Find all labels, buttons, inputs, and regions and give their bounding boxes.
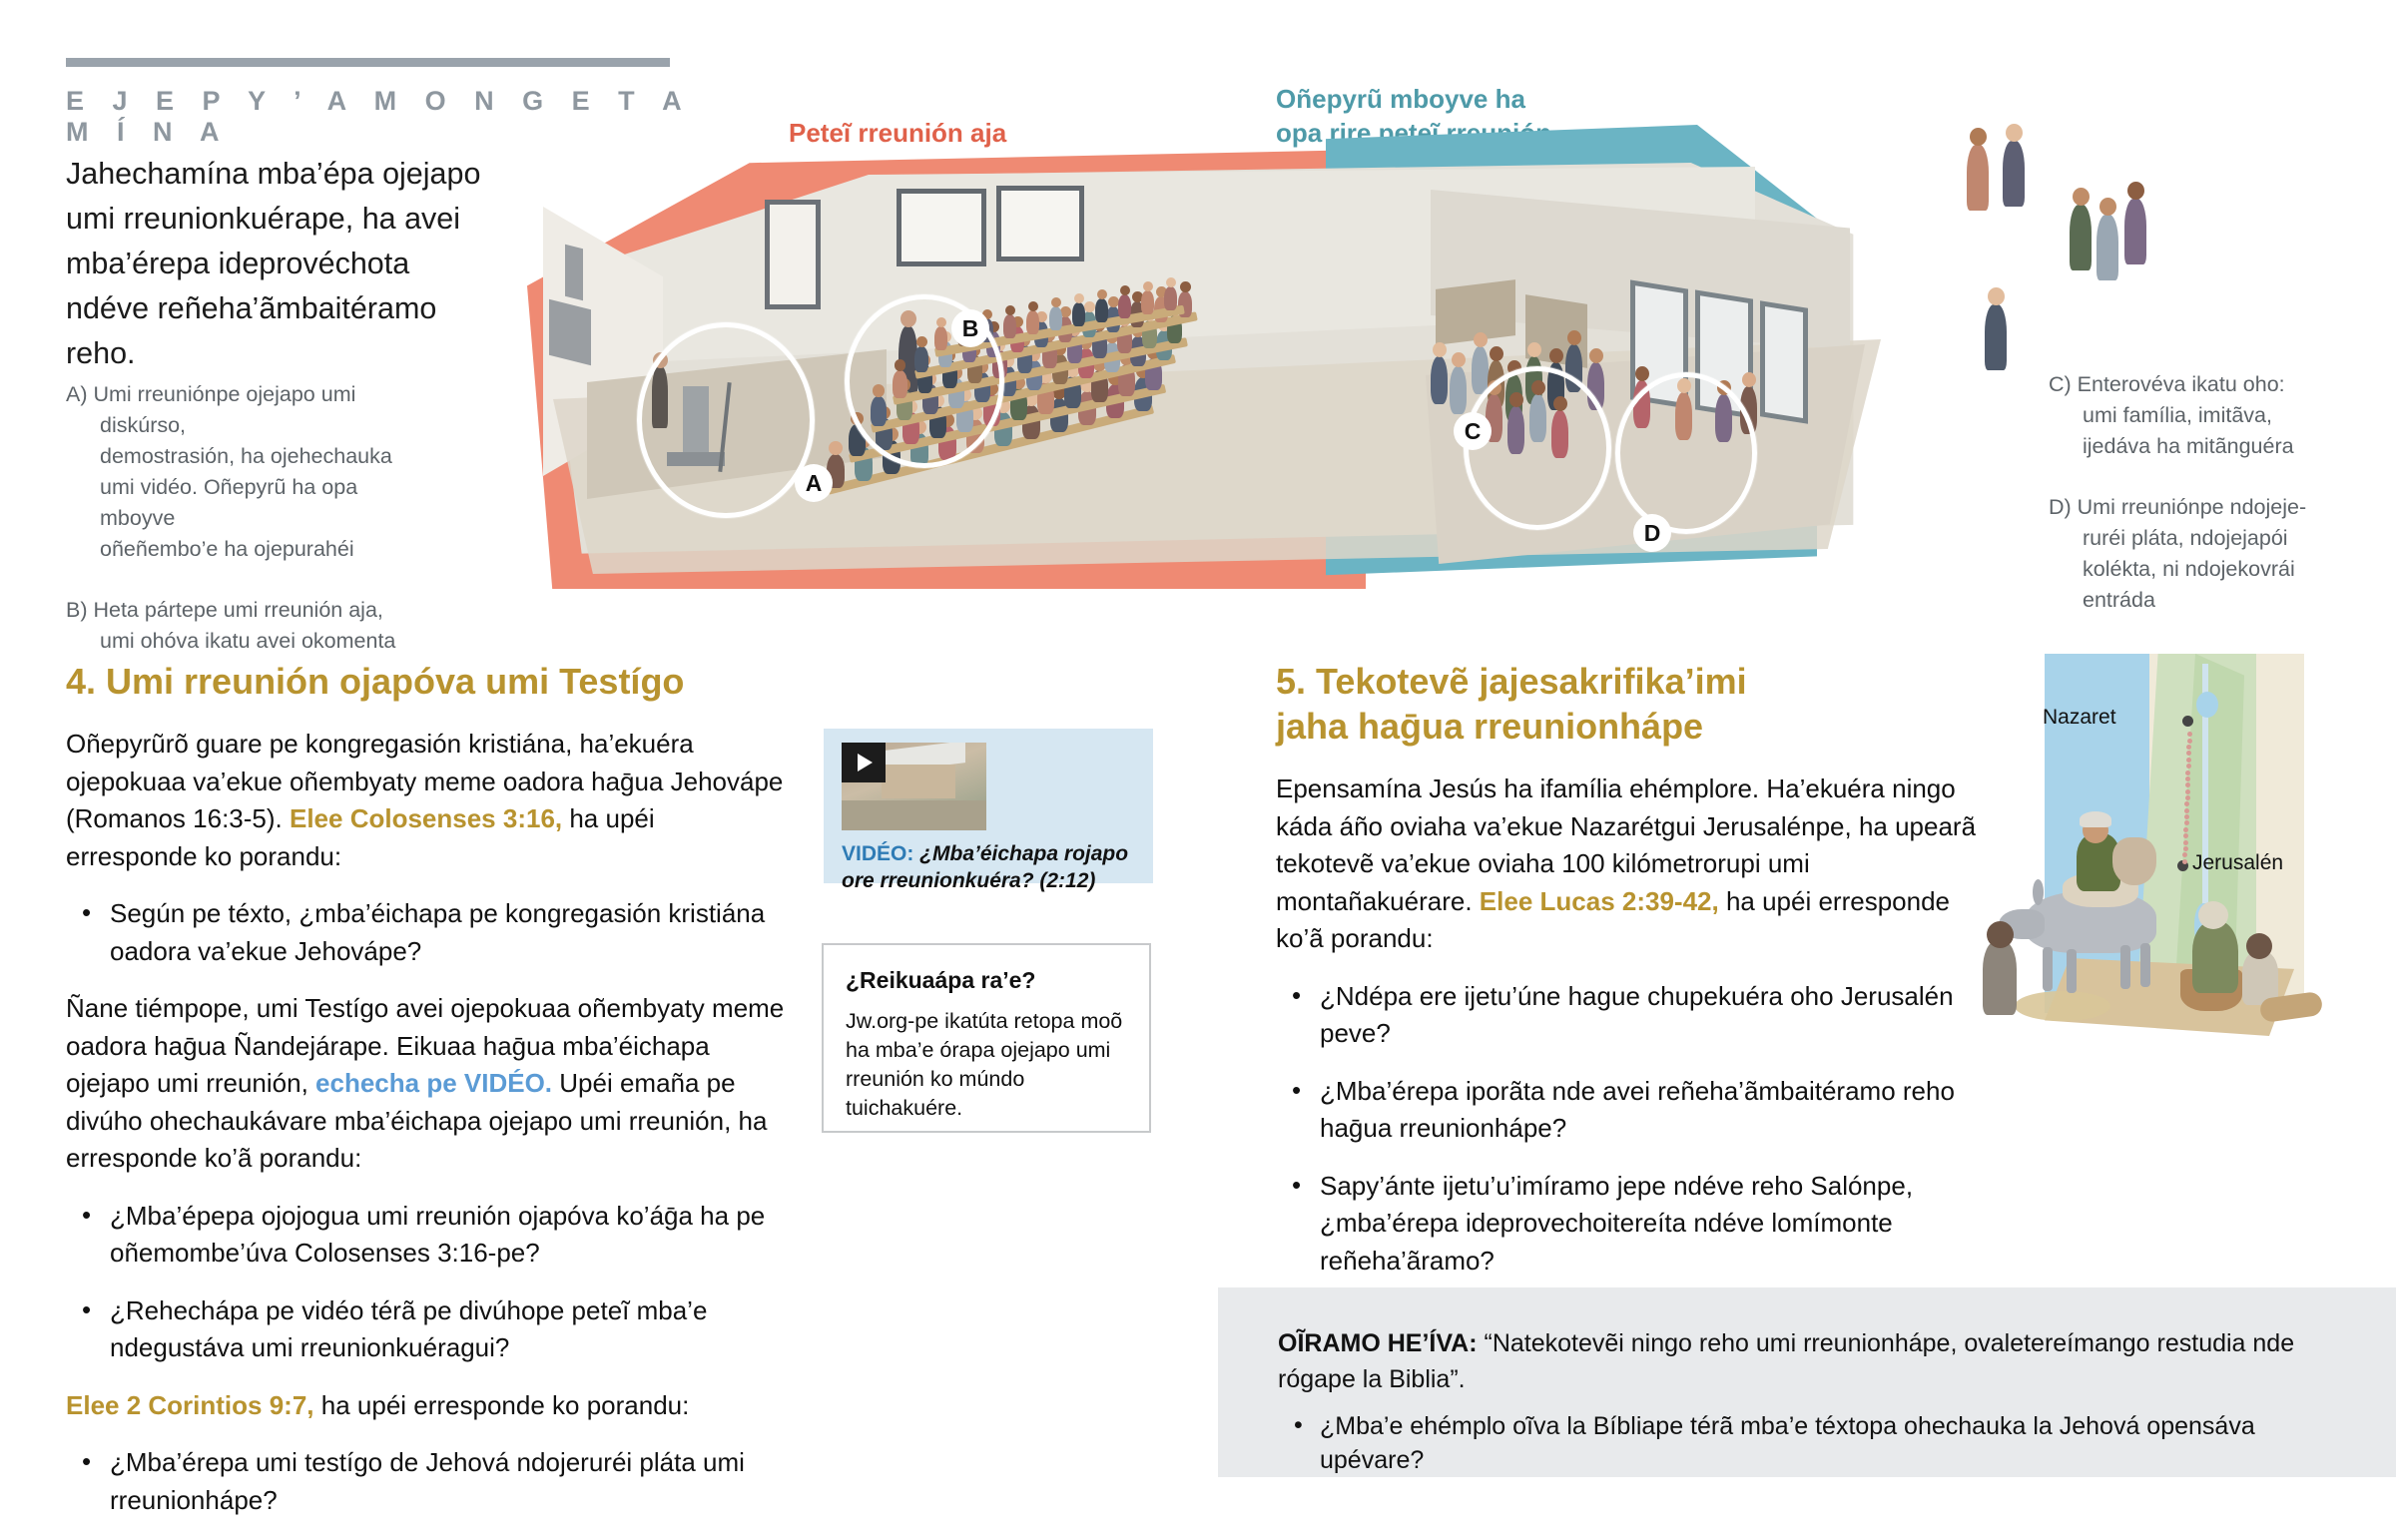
marker-ring-a [637,322,815,518]
lobby-figure-head [1490,346,1503,361]
audience-figure-head [1051,297,1061,307]
donkey-leg-2 [2067,949,2077,993]
nazareth-jerusalem-map: Nazaret Jerusalén [2045,654,2314,1043]
legend-a-line2: demostrasión, ha ojehechauka [100,441,425,472]
objection-box: OĨRAMO HE’ÍVA: “Natekotevẽi ningo reho u… [1218,1287,2396,1477]
legend-item-c: C) Enterovéva ikatu oho: umi família, im… [2049,369,2388,462]
boy-head [2246,933,2272,959]
map-route-dot [2185,789,2190,794]
woman-head [2198,901,2228,929]
video-label: VIDÉO: [842,842,913,865]
s4-p3-after: ha upéi erresponde ko porandu: [314,1390,690,1420]
objection-questions: ¿Mba’e ehémplo oĩva la Bíbliape térã mba… [1278,1409,2356,1477]
arriving-figure [2096,215,2118,280]
lobby-figure-head [1549,348,1563,363]
map-dot-nazaret [2182,716,2193,727]
legend-item-d: D) Umi rreuniónpe ndojeje- ruréi pláta, … [2049,492,2388,616]
legend-d-line3: kolékta, ni ndojekovrái [2083,554,2388,585]
audience-figure-head [1005,305,1015,315]
donkey-leg-4 [2140,943,2150,987]
section-4-questions-1: Según pe téxto, ¿mba’éichapa pe kongrega… [66,895,785,970]
section-5-heading-line2: jaha haḡua rreunionhápe [1276,704,1995,749]
legend-d-line4: entráda [2083,585,2388,616]
lobby-figure [1450,366,1467,414]
hall-graphic: A B C D [527,95,1995,599]
section-4-paragraph-2: Ñane tiémpope, umi Testígo avei ojepokua… [66,990,785,1178]
legend-d-line2: ruréi pláta, ndojejapói [2083,523,2388,554]
marker-ring-c [1464,366,1611,530]
objection-label: OĨRAMO HE’ÍVA: [1278,1329,1478,1357]
marker-c: C [1454,412,1492,450]
legend-item-a: A) Umi rreuniónpe ojejapo umi diskúrso, … [66,379,425,565]
arriving-figure-head [2099,198,2116,216]
legend-b-line2: umi ohóva ikatu avei okomenta [100,626,425,657]
section-4-paragraph-1: Oñepyrũrõ guare pe kongregasión kristián… [66,726,785,875]
legend-a-line1: A) Umi rreuniónpe ojejapo umi diskúrso, [100,379,425,441]
child-figure [1983,941,2017,1015]
list-item: ¿Mba’érepa umi testígo de Jehová ndojeru… [66,1444,785,1519]
wall-panel-1 [565,245,583,300]
section-4-paragraph-3: Elee 2 Corintios 9:7, ha upéi erresponde… [66,1387,785,1425]
hall-window-2 [996,186,1084,261]
wall-panel-2 [549,299,591,365]
thumb-building [882,765,955,798]
legend-c-line2: umi família, imitãva, [2083,400,2388,431]
audience-figure [1049,306,1062,330]
video-caption: VIDÉO: ¿Mba’éichapa rojapo ore rreunionk… [842,840,1141,894]
rider-turban [2080,811,2111,827]
arriving-figure-head [2006,124,2023,142]
arriving-figure-head [2127,182,2144,200]
legend-left: A) Umi rreuniónpe ojejapo umi diskúrso, … [66,379,425,687]
lobby-figure-head [1589,348,1603,363]
legend-item-b: B) Heta pártepe umi rreunión aja, umi oh… [66,595,425,657]
play-icon[interactable] [842,743,886,782]
arriving-figure-head [1988,287,2005,305]
marker-a: A [795,464,833,502]
map-route-dot [2185,795,2190,800]
section-4-heading: 4. Umi rreunión ojapóva umi Testígo [66,659,785,704]
donkey-leg-1 [2043,947,2053,991]
arriving-figure-head [1970,128,1987,146]
donkey-ear [2033,879,2044,905]
audience-figure-head [1084,301,1095,312]
arriving-figure [1985,304,2007,370]
lobby-figure [1472,346,1489,394]
objection-text: OĨRAMO HE’ÍVA: “Natekotevẽi ningo reho u… [1278,1325,2336,1397]
lobby-figure [1431,356,1448,404]
list-item: ¿Ndépa ere ijetu’úne hague chupekuéra oh… [1276,978,1995,1053]
list-item: ¿Rehechápa pe vidéo térã pe divúhope pet… [66,1292,785,1367]
audience-figure-head [1097,289,1107,299]
list-item: ¿Mba’épepa ojojogua umi rreunión ojapóva… [66,1198,785,1273]
video-card[interactable]: VIDÉO: ¿Mba’éichapa rojapo ore rreunionk… [824,729,1153,883]
legend-d-line1: D) Umi rreuniónpe ndojeje- [2083,492,2388,523]
woman-figure [2192,921,2238,993]
audience-figure [1095,298,1108,322]
audience-figure-head [1074,293,1084,303]
section-4-questions-2: ¿Mba’épepa ojojogua umi rreunión ojapóva… [66,1198,785,1367]
rider-sack [2112,837,2156,885]
list-item: Sapy’ánte ijetu’u’imíramo jepe ndéve reh… [1276,1168,1995,1281]
lobby-figure-head [1742,372,1756,387]
lobby-figure-head [1635,366,1649,381]
legend-c-line1: C) Enterovéva ikatu oho: [2083,369,2388,400]
s5-p1-scripture[interactable]: Elee Lucas 2:39-42, [1480,886,1719,916]
audience-figure-head [1108,296,1119,307]
audience-figure-head [1028,301,1038,311]
page-root: E J E P Y ’ A M O N G E T A M Í N A Jahe… [0,0,2396,1540]
child-head [1987,921,2014,948]
marker-d: D [1633,514,1671,552]
audience-figure [1164,286,1177,310]
donkey-leg-3 [2120,945,2130,989]
map-lake-galilee [2196,692,2218,718]
arriving-figure [2070,205,2092,270]
s4-p3-scripture[interactable]: Elee 2 Corintios 9:7, [66,1390,314,1420]
audience-figure-head [1143,281,1153,291]
map-label-nazaret: Nazaret [2043,706,2116,730]
marker-b: B [951,309,989,347]
entrance-door-3 [1760,300,1808,424]
lobby-figure-head [1433,342,1447,357]
play-triangle [858,754,873,771]
hall-window-1 [897,189,986,266]
audience-figure [1118,294,1131,318]
section-5-heading-line1: 5. Tekotevẽ jajesakrifika’imi [1276,659,1995,704]
audience-figure [1003,314,1016,338]
art-straw [2015,991,2110,1021]
list-item: ¿Mba’e ehémplo oĩva la Bíbliape térã mba… [1278,1409,2356,1477]
legend-a-line3: umi vidéo. Oñepyrũ ha opa mboyve [100,472,425,534]
arriving-figure [1967,145,1989,211]
arriving-figure [2124,199,2146,264]
arriving-figure [2003,141,2025,207]
lobby-figure-head [1452,352,1466,367]
did-you-know-heading: ¿Reikuaápa ra’e? [846,967,1035,994]
list-item: ¿Mba’érepa iporãta nde avei reñeha’ãmbai… [1276,1073,1995,1148]
did-you-know-box: ¿Reikuaápa ra’e? Jw.org-pe ikatúta retop… [822,943,1151,1133]
thumb-ground [842,800,986,830]
audience-figure-head [1120,285,1130,295]
section-5-heading: 5. Tekotevẽ jajesakrifika’imi jaha haḡua… [1276,659,1995,749]
section-5-questions-1: ¿Ndépa ere ijetu’úne hague chupekuéra oh… [1276,978,1995,1281]
audience-figure-head [1166,277,1176,287]
section-5-paragraph-1: Epensamína Jesús ha ifamília ehémplore. … [1276,770,1995,958]
map-route-dot [2187,739,2192,744]
s4-p1-scripture[interactable]: Elee Colosenses 3:16, [290,803,562,833]
lobby-figure-head [1474,332,1488,347]
lobby-figure-head [1527,342,1541,357]
legend-a-line4: oñeñembo’e ha ojepurahéi [100,534,425,565]
intro-paragraph: Jahechamína mba’épa ojejapo umi rreunion… [66,152,495,376]
map-route-dot [2186,758,2191,763]
audience-figure [1026,310,1039,334]
did-you-know-body: Jw.org-pe ikatúta retopa moõ ha mba’e ór… [846,1007,1135,1123]
map-route-dot [2184,808,2189,813]
map-route-dot [2186,764,2191,769]
hall-door [765,200,821,309]
legend-right: C) Enterovéva ikatu oho: umi família, im… [2049,369,2388,646]
legend-b-line1: B) Heta pártepe umi rreunión aja, [100,595,425,626]
header-rule [66,58,670,67]
section-4-questions-3: ¿Mba’érepa umi testígo de Jehová ndojeru… [66,1444,785,1519]
list-item: Según pe téxto, ¿mba’éichapa pe kongrega… [66,895,785,970]
audience-figure [1141,290,1154,314]
audience-figure [1072,302,1085,326]
audience-figure-head [1180,281,1191,292]
marker-ring-d [1615,372,1757,534]
section-4: 4. Umi rreunión ojapóva umi Testígo Oñep… [66,659,785,1540]
kingdom-hall-illustration: A B C D [527,95,1995,599]
lobby-figure-head [1567,330,1581,345]
s4-video-link[interactable]: echecha pe VIDÉO. [315,1068,552,1098]
legend-c-line3: ijedáva ha mitãnguéra [2083,431,2388,462]
family-travel-artwork [1985,813,2314,1043]
arriving-figure-head [2073,188,2090,206]
